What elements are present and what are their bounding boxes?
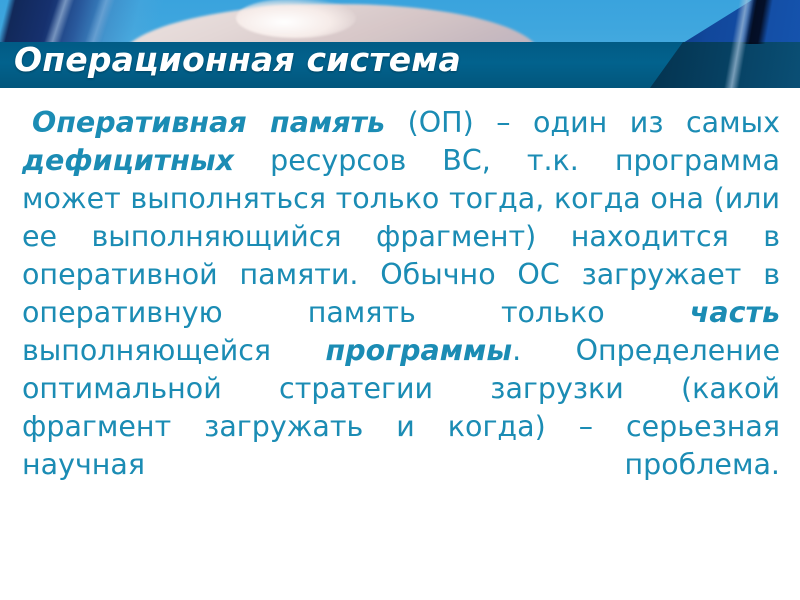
- body-emphasis-run: дефицитных: [22, 144, 234, 177]
- slide: Операционная система Оперативная память …: [0, 0, 800, 600]
- body-paragraph: Оперативная память (ОП) – один из самых …: [22, 104, 780, 522]
- slide-content-area: Оперативная память (ОП) – один из самых …: [22, 104, 780, 522]
- body-emphasis-run: программы: [326, 334, 513, 367]
- body-text-run: выполняющейся: [22, 334, 326, 367]
- body-text-run: (ОП) – один из самых: [385, 106, 780, 139]
- banner-diagonal-wedge: [650, 0, 800, 88]
- slide-title: Операционная система: [14, 38, 461, 82]
- body-emphasis-run: Оперативная память: [32, 106, 385, 139]
- wedge-light-edge-line: [650, 0, 800, 88]
- slide-header-banner: Операционная система: [0, 0, 800, 88]
- body-emphasis-run: часть: [690, 296, 780, 329]
